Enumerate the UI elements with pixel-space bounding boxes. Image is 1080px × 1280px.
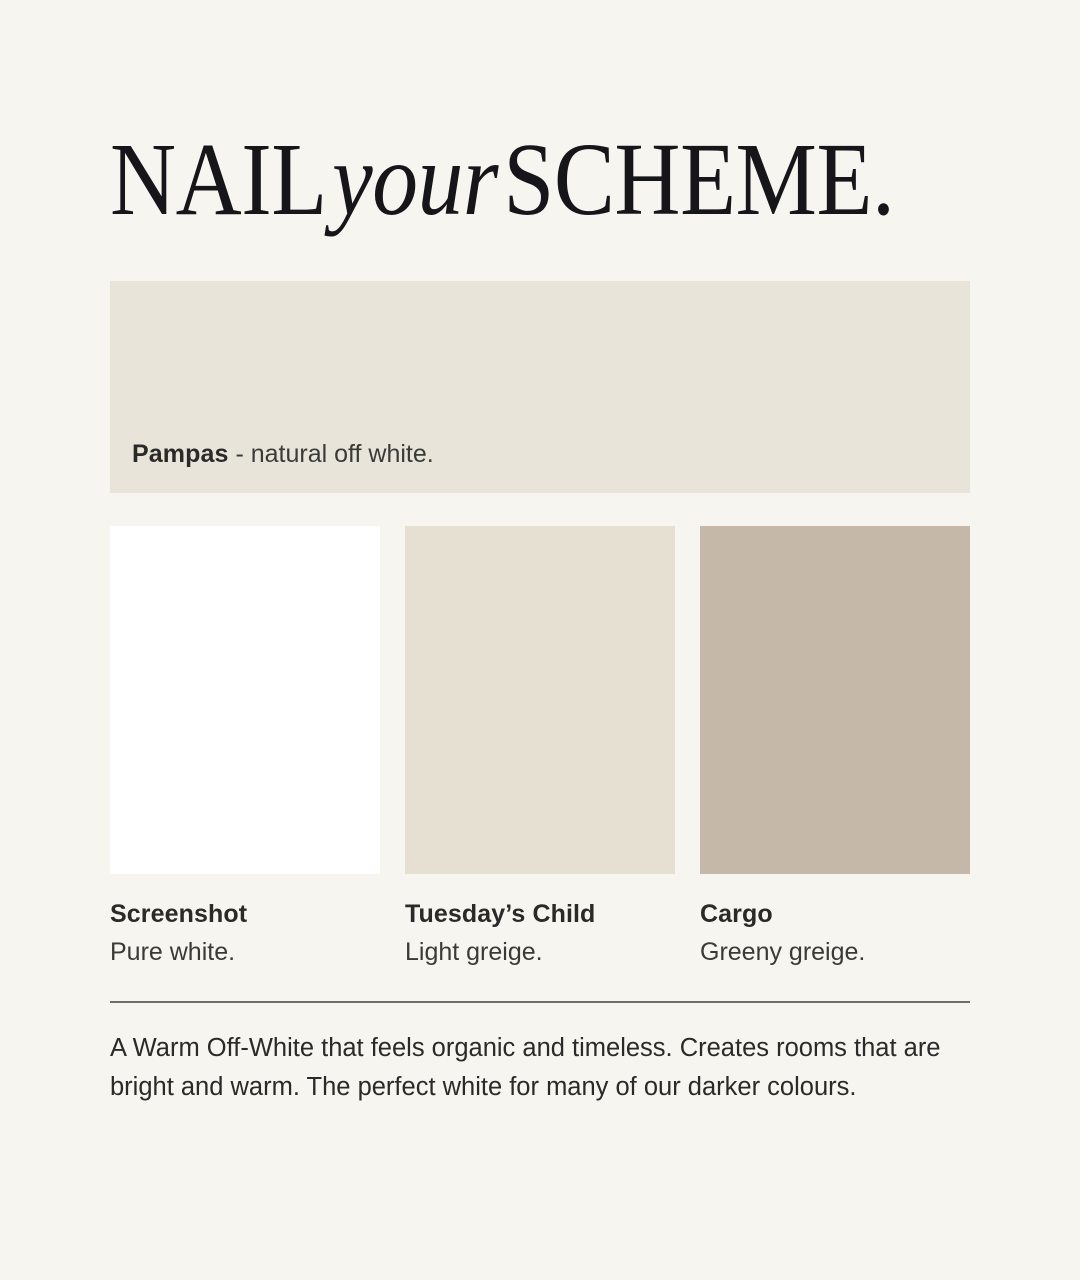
palette-card: NAILyourSCHEME. Pampas - natural off whi…: [0, 0, 1080, 1280]
swatch-description-tuesdays-child: Light greige.: [405, 937, 675, 967]
feature-color-label: Pampas - natural off white.: [132, 439, 434, 469]
swatch-description-cargo: Greeny greige.: [700, 937, 970, 967]
page-title: NAILyourSCHEME.: [110, 128, 867, 232]
section-divider: [110, 1001, 970, 1003]
swatch-item-cargo: Cargo Greeny greige.: [700, 526, 970, 967]
content-container: NAILyourSCHEME. Pampas - natural off whi…: [110, 0, 970, 1108]
swatch-chip-cargo[interactable]: [700, 526, 970, 874]
swatch-item-tuesdays-child: Tuesday’s Child Light greige.: [405, 526, 675, 967]
swatch-name-tuesdays-child: Tuesday’s Child: [405, 900, 675, 929]
feature-color-description: - natural off white.: [229, 440, 434, 468]
page-title-part-1: NAIL: [110, 122, 327, 237]
swatch-item-screenshot: Screenshot Pure white.: [110, 526, 380, 967]
palette-description: A Warm Off-White that feels organic and …: [110, 1029, 956, 1108]
swatch-chip-tuesdays-child[interactable]: [405, 526, 675, 874]
swatch-name-screenshot: Screenshot: [110, 900, 380, 929]
page-title-part-3: SCHEME.: [503, 122, 894, 237]
swatch-name-cargo: Cargo: [700, 900, 970, 929]
feature-color-swatch[interactable]: Pampas - natural off white.: [110, 281, 970, 493]
swatch-chip-screenshot[interactable]: [110, 526, 380, 874]
swatch-row: Screenshot Pure white. Tuesday’s Child L…: [110, 526, 970, 967]
page-title-part-2-italic: your: [327, 122, 504, 237]
swatch-description-screenshot: Pure white.: [110, 937, 380, 967]
feature-color-name: Pampas: [132, 440, 229, 468]
